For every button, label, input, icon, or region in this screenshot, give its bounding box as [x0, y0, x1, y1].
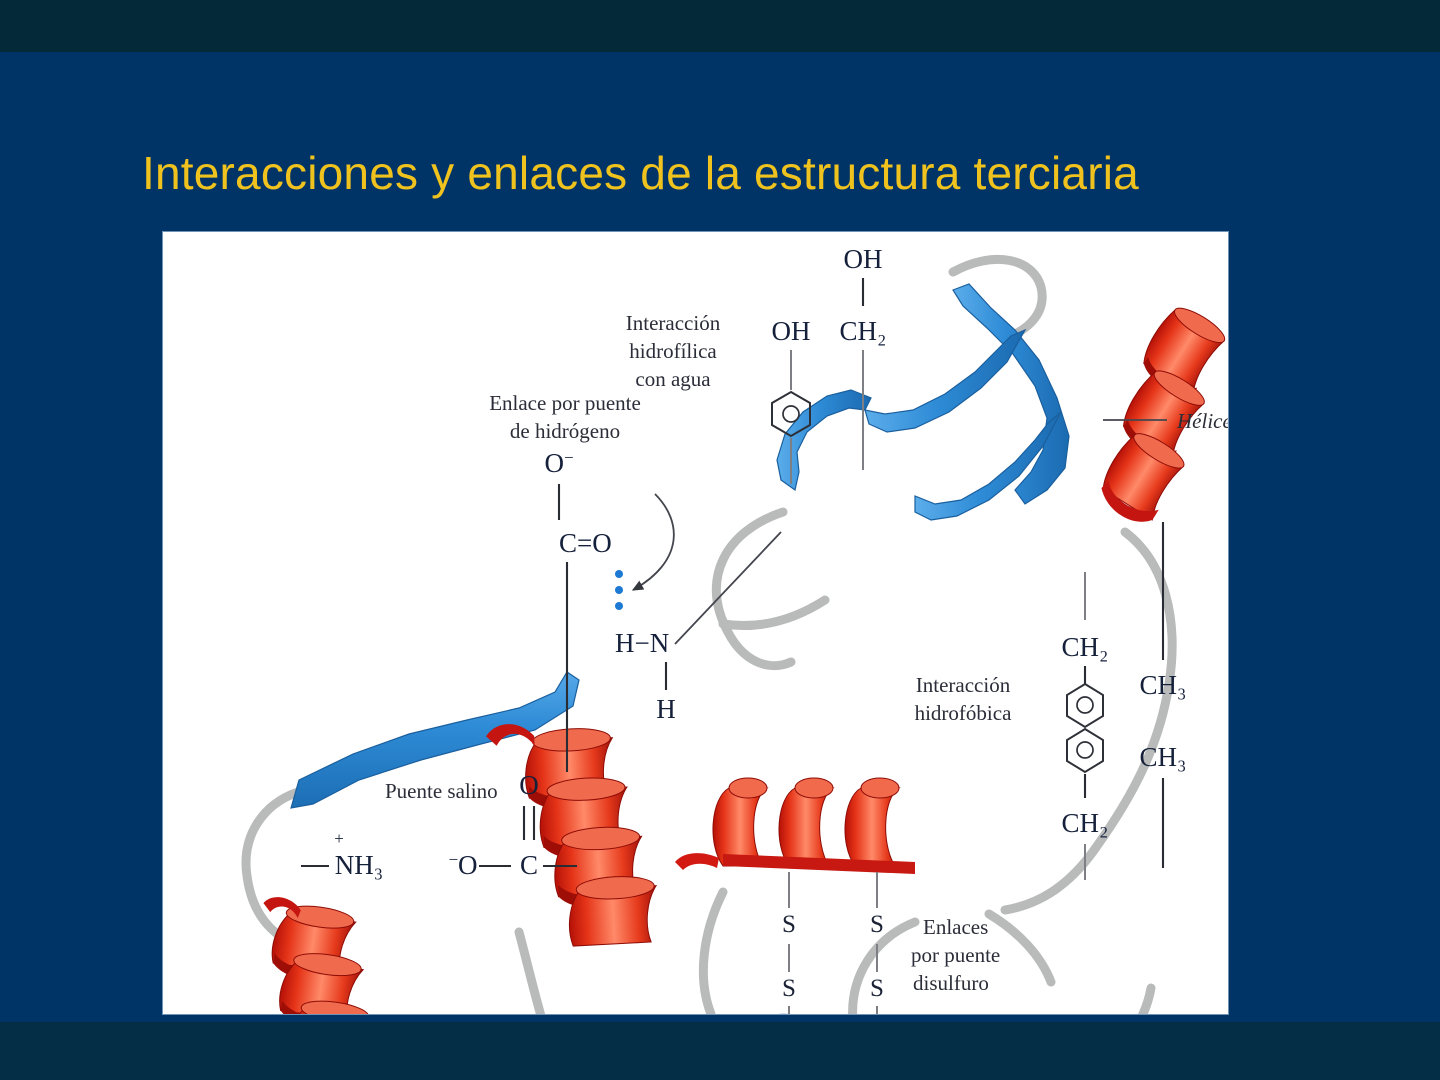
hbond-dots-backbone — [615, 570, 623, 610]
ch3-lower-label: CH₃ — [1140, 742, 1187, 772]
oh-top-label: OH — [844, 244, 883, 274]
protein-tertiary-structure-diagram: S S S S OH CH₂ OH O− C=O H−N — [163, 232, 1228, 1014]
label-disulfide-line3: disulfuro — [913, 971, 989, 995]
carboxyl-c-label: C — [520, 850, 538, 880]
label-salt-bridge-text: Puente salino — [385, 779, 498, 803]
label-helix-alpha-text: Hélice α — [1176, 409, 1228, 433]
sulfur-label-left-upper: S — [782, 911, 796, 938]
sulfur-label-right-lower: S — [870, 975, 884, 1002]
oh-left-label: OH — [772, 316, 811, 346]
label-hbond-top-line1: Enlace por puente — [489, 391, 641, 415]
h-lower-label: H — [656, 694, 676, 724]
sulfur-label-left-lower: S — [782, 975, 796, 1002]
sulfur-label-right-upper: S — [870, 911, 884, 938]
carboxyl-o-top-label: O — [519, 770, 539, 800]
label-helix-alpha: Hélice α — [1176, 409, 1228, 433]
ch2-right-lower-label: CH₂ — [1062, 808, 1109, 838]
label-hydrophilic-line3: con agua — [635, 367, 711, 391]
label-disulfide-line1: Enlaces — [923, 915, 988, 939]
label-hbond-top-line2: de hidrógeno — [510, 419, 620, 443]
ch2-top-label: CH₂ — [840, 316, 887, 346]
top-banner-bar — [0, 0, 1440, 52]
page-title: Interacciones y enlaces de la estructura… — [142, 149, 1342, 197]
ammonium-charge-label: + — [334, 829, 344, 848]
ch3-upper-label: CH₃ — [1140, 670, 1187, 700]
label-hydrophobic-line1: Interacción — [916, 673, 1011, 697]
label-hydrophilic-line1: Interacción — [626, 311, 721, 335]
label-disulfide-line2: por puente — [911, 943, 1000, 967]
ammonium-label: NH₃ — [335, 850, 383, 880]
label-hydrophilic-line2: hidrofílica — [629, 339, 717, 363]
figure-panel: S S S S OH CH₂ OH O− C=O H−N — [163, 232, 1228, 1014]
label-hydrophilic: Interacción hidrofílica con agua — [626, 311, 721, 391]
label-disulfide: Enlaces por puente disulfuro — [911, 915, 1000, 995]
label-hydrophobic-line2: hidrofóbica — [915, 701, 1012, 725]
ch2-right-upper-label: CH₂ — [1062, 632, 1109, 662]
label-salt-bridge: Puente salino — [385, 779, 498, 803]
h-n-label: H−N — [615, 628, 669, 658]
c-double-o-label: C=O — [559, 528, 612, 558]
bottom-banner-bar — [0, 1022, 1440, 1080]
